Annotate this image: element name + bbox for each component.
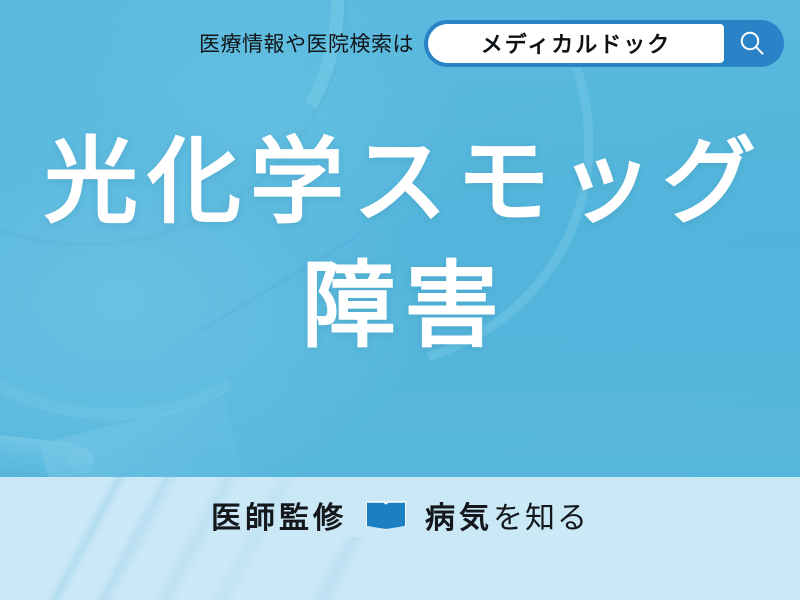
know-disease-strong: 病気 [425,502,493,535]
hero-title: 光化学スモッグ 障害 [0,120,800,368]
header: 医療情報や医院検索は メディカルドック [0,0,800,86]
band-texture [250,537,430,600]
search-icon [737,28,767,58]
supervision-label: 医師監修 [211,493,347,537]
hero-title-line-1: 光化学スモッグ [0,120,800,244]
search-button[interactable] [724,24,780,63]
search-bar[interactable]: メディカルドック [424,20,784,67]
know-disease-rest: を知る [493,502,589,535]
search-input[interactable]: メディカルドック [428,24,724,63]
search-input-value: メディカルドック [481,27,671,59]
open-book-icon [365,498,407,532]
header-tagline: 医療情報や医院検索は [199,28,414,58]
footer-band: 医師監修 病気を知る Medical DOC [0,477,800,600]
medical-doc-article-card: 医療情報や医院検索は メディカルドック 光化学スモッグ 障害 医師監修 [0,0,800,600]
hero-title-line-2: 障害 [0,244,800,368]
know-disease-label: 病気を知る [425,493,589,537]
footer-tagline-row: 医師監修 病気を知る [0,493,800,537]
